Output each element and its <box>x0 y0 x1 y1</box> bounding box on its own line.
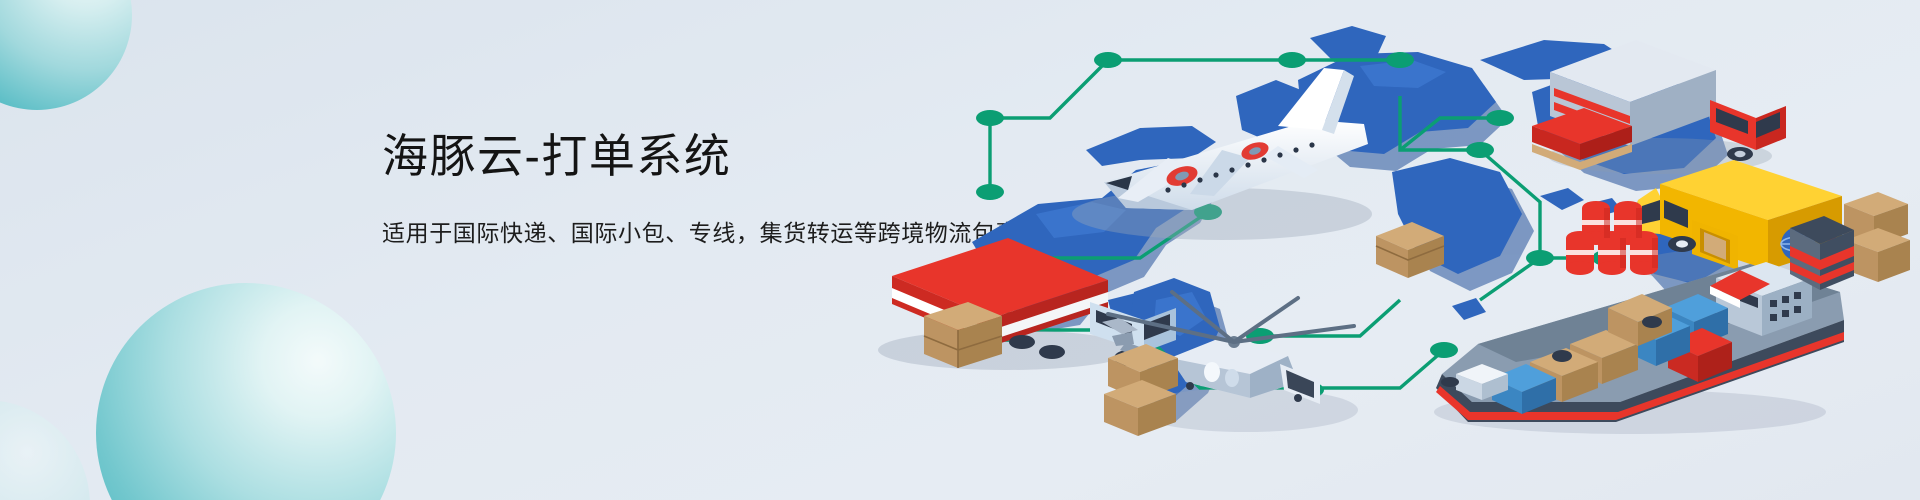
decorative-circle-bottom-left-soft <box>0 400 90 500</box>
cargo-boxes <box>1104 344 1178 436</box>
logistics-illustration <box>840 0 1920 500</box>
decorative-circle-bottom-left <box>96 283 396 500</box>
decorative-circle-top-left <box>0 0 132 110</box>
hero-banner: 海豚云-打单系统 适用于国际快递、国际小包、专线，集货转运等跨境物流包裹处理 <box>0 0 1920 500</box>
